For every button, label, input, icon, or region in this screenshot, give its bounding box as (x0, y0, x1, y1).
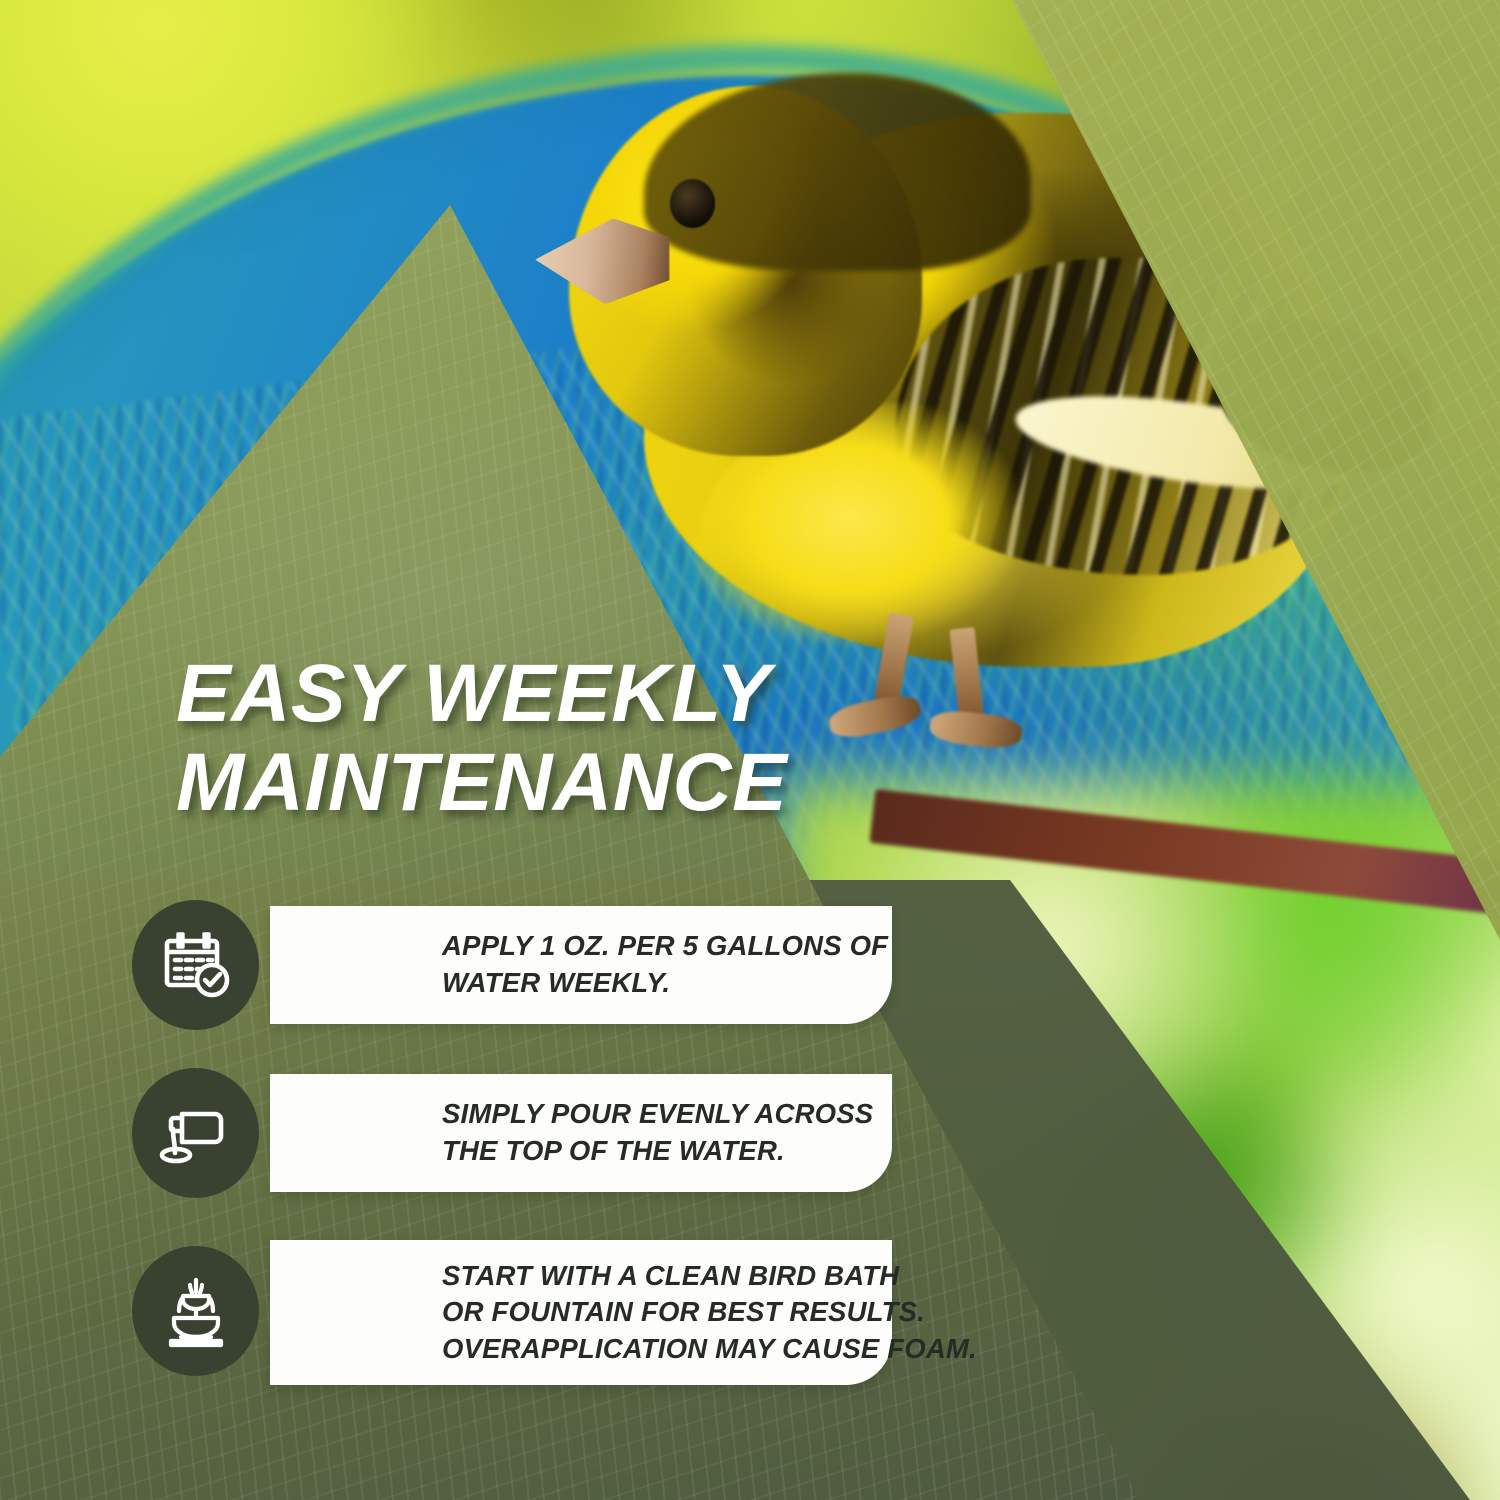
calendar-check-icon (159, 928, 233, 1002)
step-icon-badge (132, 1246, 259, 1376)
fountain-icon (159, 1274, 233, 1348)
product-infographic-poster: EASY WEEKLY MAINTENANCE APPLY 1 OZ. PER … (0, 0, 1500, 1500)
page-title: EASY WEEKLY MAINTENANCE (176, 650, 956, 827)
step-icon-badge (132, 1068, 259, 1198)
headline-line-2: MAINTENANCE (176, 739, 956, 828)
instruction-step-list: APPLY 1 OZ. PER 5 GALLONS OF WATER WEEKL… (132, 900, 892, 1386)
step-text: APPLY 1 OZ. PER 5 GALLONS OF WATER WEEKL… (442, 928, 888, 1001)
step-text-line: SIMPLY POUR EVENLY ACROSS (442, 1096, 873, 1133)
step-text-line: OR FOUNTAIN FOR BEST RESULTS. (442, 1294, 977, 1331)
instruction-step: SIMPLY POUR EVENLY ACROSS THE TOP OF THE… (132, 1068, 892, 1193)
step-text-line: OVERAPPLICATION MAY CAUSE FOAM. (442, 1331, 977, 1368)
step-text-line: WATER WEEKLY. (442, 965, 888, 1002)
step-card: START WITH A CLEAN BIRD BATH OR FOUNTAIN… (270, 1240, 892, 1385)
step-card: APPLY 1 OZ. PER 5 GALLONS OF WATER WEEKL… (270, 906, 892, 1024)
instruction-step: START WITH A CLEAN BIRD BATH OR FOUNTAIN… (132, 1236, 892, 1386)
bird-eye (670, 179, 715, 228)
step-icon-badge (132, 900, 259, 1030)
pouring-bottle-icon (159, 1096, 233, 1170)
step-text-line: THE TOP OF THE WATER. (442, 1133, 873, 1170)
step-card: SIMPLY POUR EVENLY ACROSS THE TOP OF THE… (270, 1074, 892, 1192)
instruction-step: APPLY 1 OZ. PER 5 GALLONS OF WATER WEEKL… (132, 900, 892, 1025)
headline-line-1: EASY WEEKLY (176, 650, 956, 739)
step-text-line: START WITH A CLEAN BIRD BATH (442, 1258, 977, 1295)
step-text: SIMPLY POUR EVENLY ACROSS THE TOP OF THE… (442, 1096, 873, 1169)
step-text: START WITH A CLEAN BIRD BATH OR FOUNTAIN… (442, 1258, 977, 1368)
step-text-line: APPLY 1 OZ. PER 5 GALLONS OF (442, 928, 888, 965)
